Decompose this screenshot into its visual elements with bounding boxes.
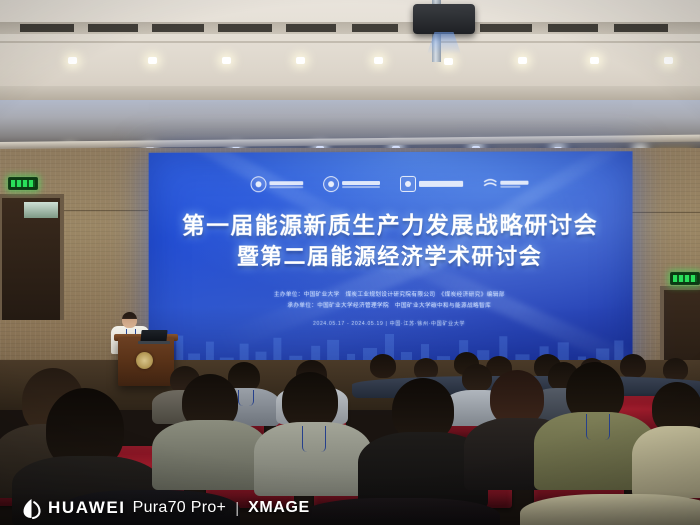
sponsor-logo-3: [483, 177, 528, 191]
group-emblem-icon: [323, 176, 339, 192]
ceiling-vent: [20, 24, 74, 32]
ceiling-spotlight: [444, 58, 453, 65]
sponsor-logo-2: [400, 176, 463, 192]
conference-date-location: 2024.05.17 - 2024.05.19 | 中国·江苏·徐州·中国矿业大…: [149, 320, 633, 328]
ceiling-spotlight: [374, 57, 383, 64]
ceiling-vent: [480, 24, 532, 32]
left-door-window: [24, 202, 58, 218]
sponsor-logo-0: [251, 176, 304, 192]
speaker-head: [122, 312, 137, 328]
conference-title-line2: 暨第二届能源经济学术研讨会: [149, 242, 633, 273]
audience-head: [462, 364, 492, 392]
watermark-imaging-brand: XMAGE: [248, 499, 310, 517]
university-seal-icon: [251, 176, 267, 192]
watermark-model: Pura70 Pro+: [133, 499, 227, 517]
exit-sign-glyph: [673, 275, 697, 282]
led-presentation-screen: 第一届能源新质生产力发展战略研讨会 暨第二届能源经济学术研讨会 主办单位：中国矿…: [149, 151, 633, 374]
ceiling-spotlight: [296, 57, 305, 64]
sponsor-logo-1: [323, 176, 380, 192]
wave-emblem-icon: [483, 177, 497, 191]
ceiling-spotlight: [148, 57, 157, 64]
sponsor-logo-3-wordmark: [500, 180, 528, 187]
ceiling-vent: [88, 24, 138, 32]
audience-shoulders: [632, 426, 700, 498]
sponsor-logo-2-wordmark: [419, 181, 463, 187]
ceiling-vent: [352, 24, 398, 32]
presenter-laptop-base: [138, 341, 170, 344]
exit-sign-glyph: [11, 180, 35, 187]
exit-sign-icon: [8, 177, 38, 190]
huawei-petal-logo-icon: [22, 498, 41, 519]
ceiling-spotlight: [68, 57, 77, 64]
ceiling-vent: [286, 24, 336, 32]
ceiling-vent: [152, 24, 204, 32]
watermark-separator: |: [235, 500, 239, 517]
sponsor-logo-row: [149, 173, 633, 194]
journal-emblem-icon: [400, 176, 416, 192]
ceiling-spotlight: [590, 57, 599, 64]
ceiling-vent: [548, 24, 598, 32]
projector-icon: [413, 4, 475, 34]
audience-lanyard: [586, 414, 610, 440]
wall-seam: [632, 212, 700, 213]
conference-title: 第一届能源新质生产力发展战略研讨会 暨第二届能源经济学术研讨会: [149, 210, 633, 273]
ceiling-spotlight: [518, 57, 527, 64]
audience-shoulders: [152, 420, 268, 490]
exit-sign-icon: [670, 272, 700, 285]
ceiling-spotlight: [664, 57, 673, 64]
ceiling-spotlight: [222, 57, 231, 64]
ceiling-vent: [218, 24, 272, 32]
conference-title-line1: 第一届能源新质生产力发展战略研讨会: [149, 210, 633, 242]
audience-head: [620, 354, 646, 378]
audience-lanyard: [302, 426, 326, 452]
ceiling: [0, 0, 700, 100]
watermark-brand: HUAWEI: [48, 498, 126, 518]
organizers-line1: 主办单位：中国矿业大学 煤炭工业规划设计研究院有限公司 《煤炭经济研究》编辑部: [149, 290, 633, 301]
organizers-line2: 承办单位：中国矿业大学经济管理学院 中国矿业大学碳中和与能源战略智库: [149, 301, 633, 312]
conference-photo: 第一届能源新质生产力发展战略研讨会 暨第二届能源经济学术研讨会 主办单位：中国矿…: [0, 0, 700, 525]
camera-watermark: HUAWEI Pura70 Pro+ | XMAGE: [0, 491, 700, 525]
sponsor-logo-1-wordmark: [342, 181, 380, 188]
conference-organizers: 主办单位：中国矿业大学 煤炭工业规划设计研究院有限公司 《煤炭经济研究》编辑部 …: [149, 290, 633, 312]
ceiling-vent: [614, 24, 668, 32]
ceiling-track: [0, 41, 700, 43]
sponsor-logo-0-wordmark: [269, 181, 303, 188]
audience-lanyard: [238, 390, 254, 406]
audience-head: [370, 354, 396, 378]
